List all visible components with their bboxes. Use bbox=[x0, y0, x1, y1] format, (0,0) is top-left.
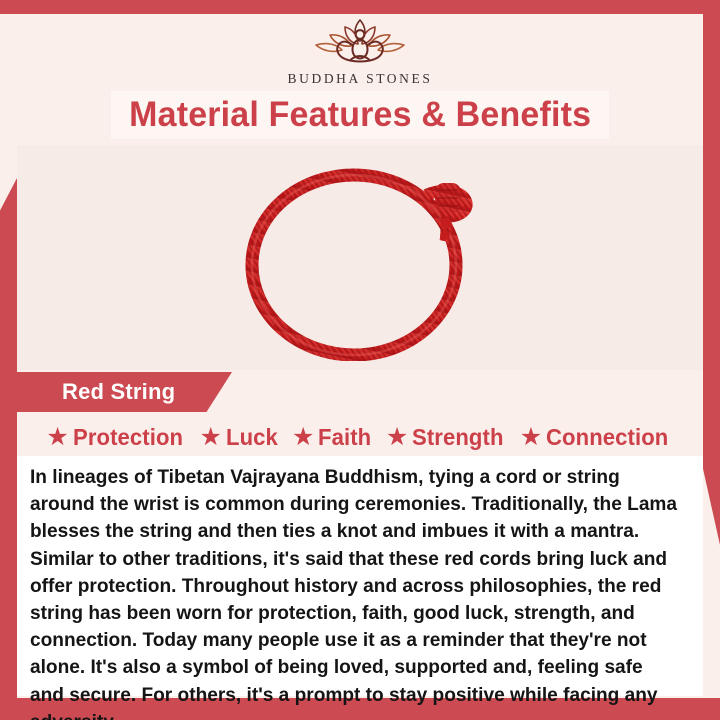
benefit-item-luck: ★ Luck bbox=[200, 424, 281, 451]
star-icon: ★ bbox=[520, 425, 542, 450]
benefits-row: ★ Protection ★ Luck ★ Faith ★ Strength ★… bbox=[17, 418, 703, 456]
frame-bar-left bbox=[0, 178, 17, 720]
benefit-label: Luck bbox=[226, 424, 278, 451]
product-name-label: Red String bbox=[62, 379, 175, 405]
hero-image-area bbox=[17, 145, 703, 370]
product-name-banner: Red String bbox=[0, 372, 232, 412]
title-band: Material Features & Benefits bbox=[111, 91, 609, 139]
page-title: Material Features & Benefits bbox=[129, 95, 591, 135]
description-text: In lineages of Tibetan Vajrayana Buddhis… bbox=[30, 464, 677, 720]
description-card: In lineages of Tibetan Vajrayana Buddhis… bbox=[17, 456, 703, 696]
frame-bar-top bbox=[0, 0, 720, 14]
benefit-label: Connection bbox=[546, 424, 668, 451]
benefit-label: Faith bbox=[318, 424, 371, 451]
brand-logo: BUDDHA STONES bbox=[0, 14, 720, 94]
brand-name: BUDDHA STONES bbox=[288, 71, 433, 87]
benefit-item-protection: ★ Protection bbox=[46, 424, 187, 451]
star-icon: ★ bbox=[386, 425, 408, 450]
lotus-meditation-icon bbox=[304, 14, 416, 70]
benefit-item-strength: ★ Strength bbox=[386, 424, 508, 451]
star-icon: ★ bbox=[200, 425, 222, 450]
star-icon: ★ bbox=[46, 425, 68, 450]
benefit-item-faith: ★ Faith bbox=[292, 424, 374, 451]
star-icon: ★ bbox=[292, 425, 314, 450]
benefit-label: Strength bbox=[412, 424, 504, 451]
poster-canvas: BUDDHA STONES Material Features & Benefi… bbox=[0, 0, 720, 720]
red-string-bracelet-image bbox=[230, 161, 490, 361]
benefit-label: Protection bbox=[73, 424, 183, 451]
benefit-item-connection: ★ Connection bbox=[520, 424, 674, 451]
